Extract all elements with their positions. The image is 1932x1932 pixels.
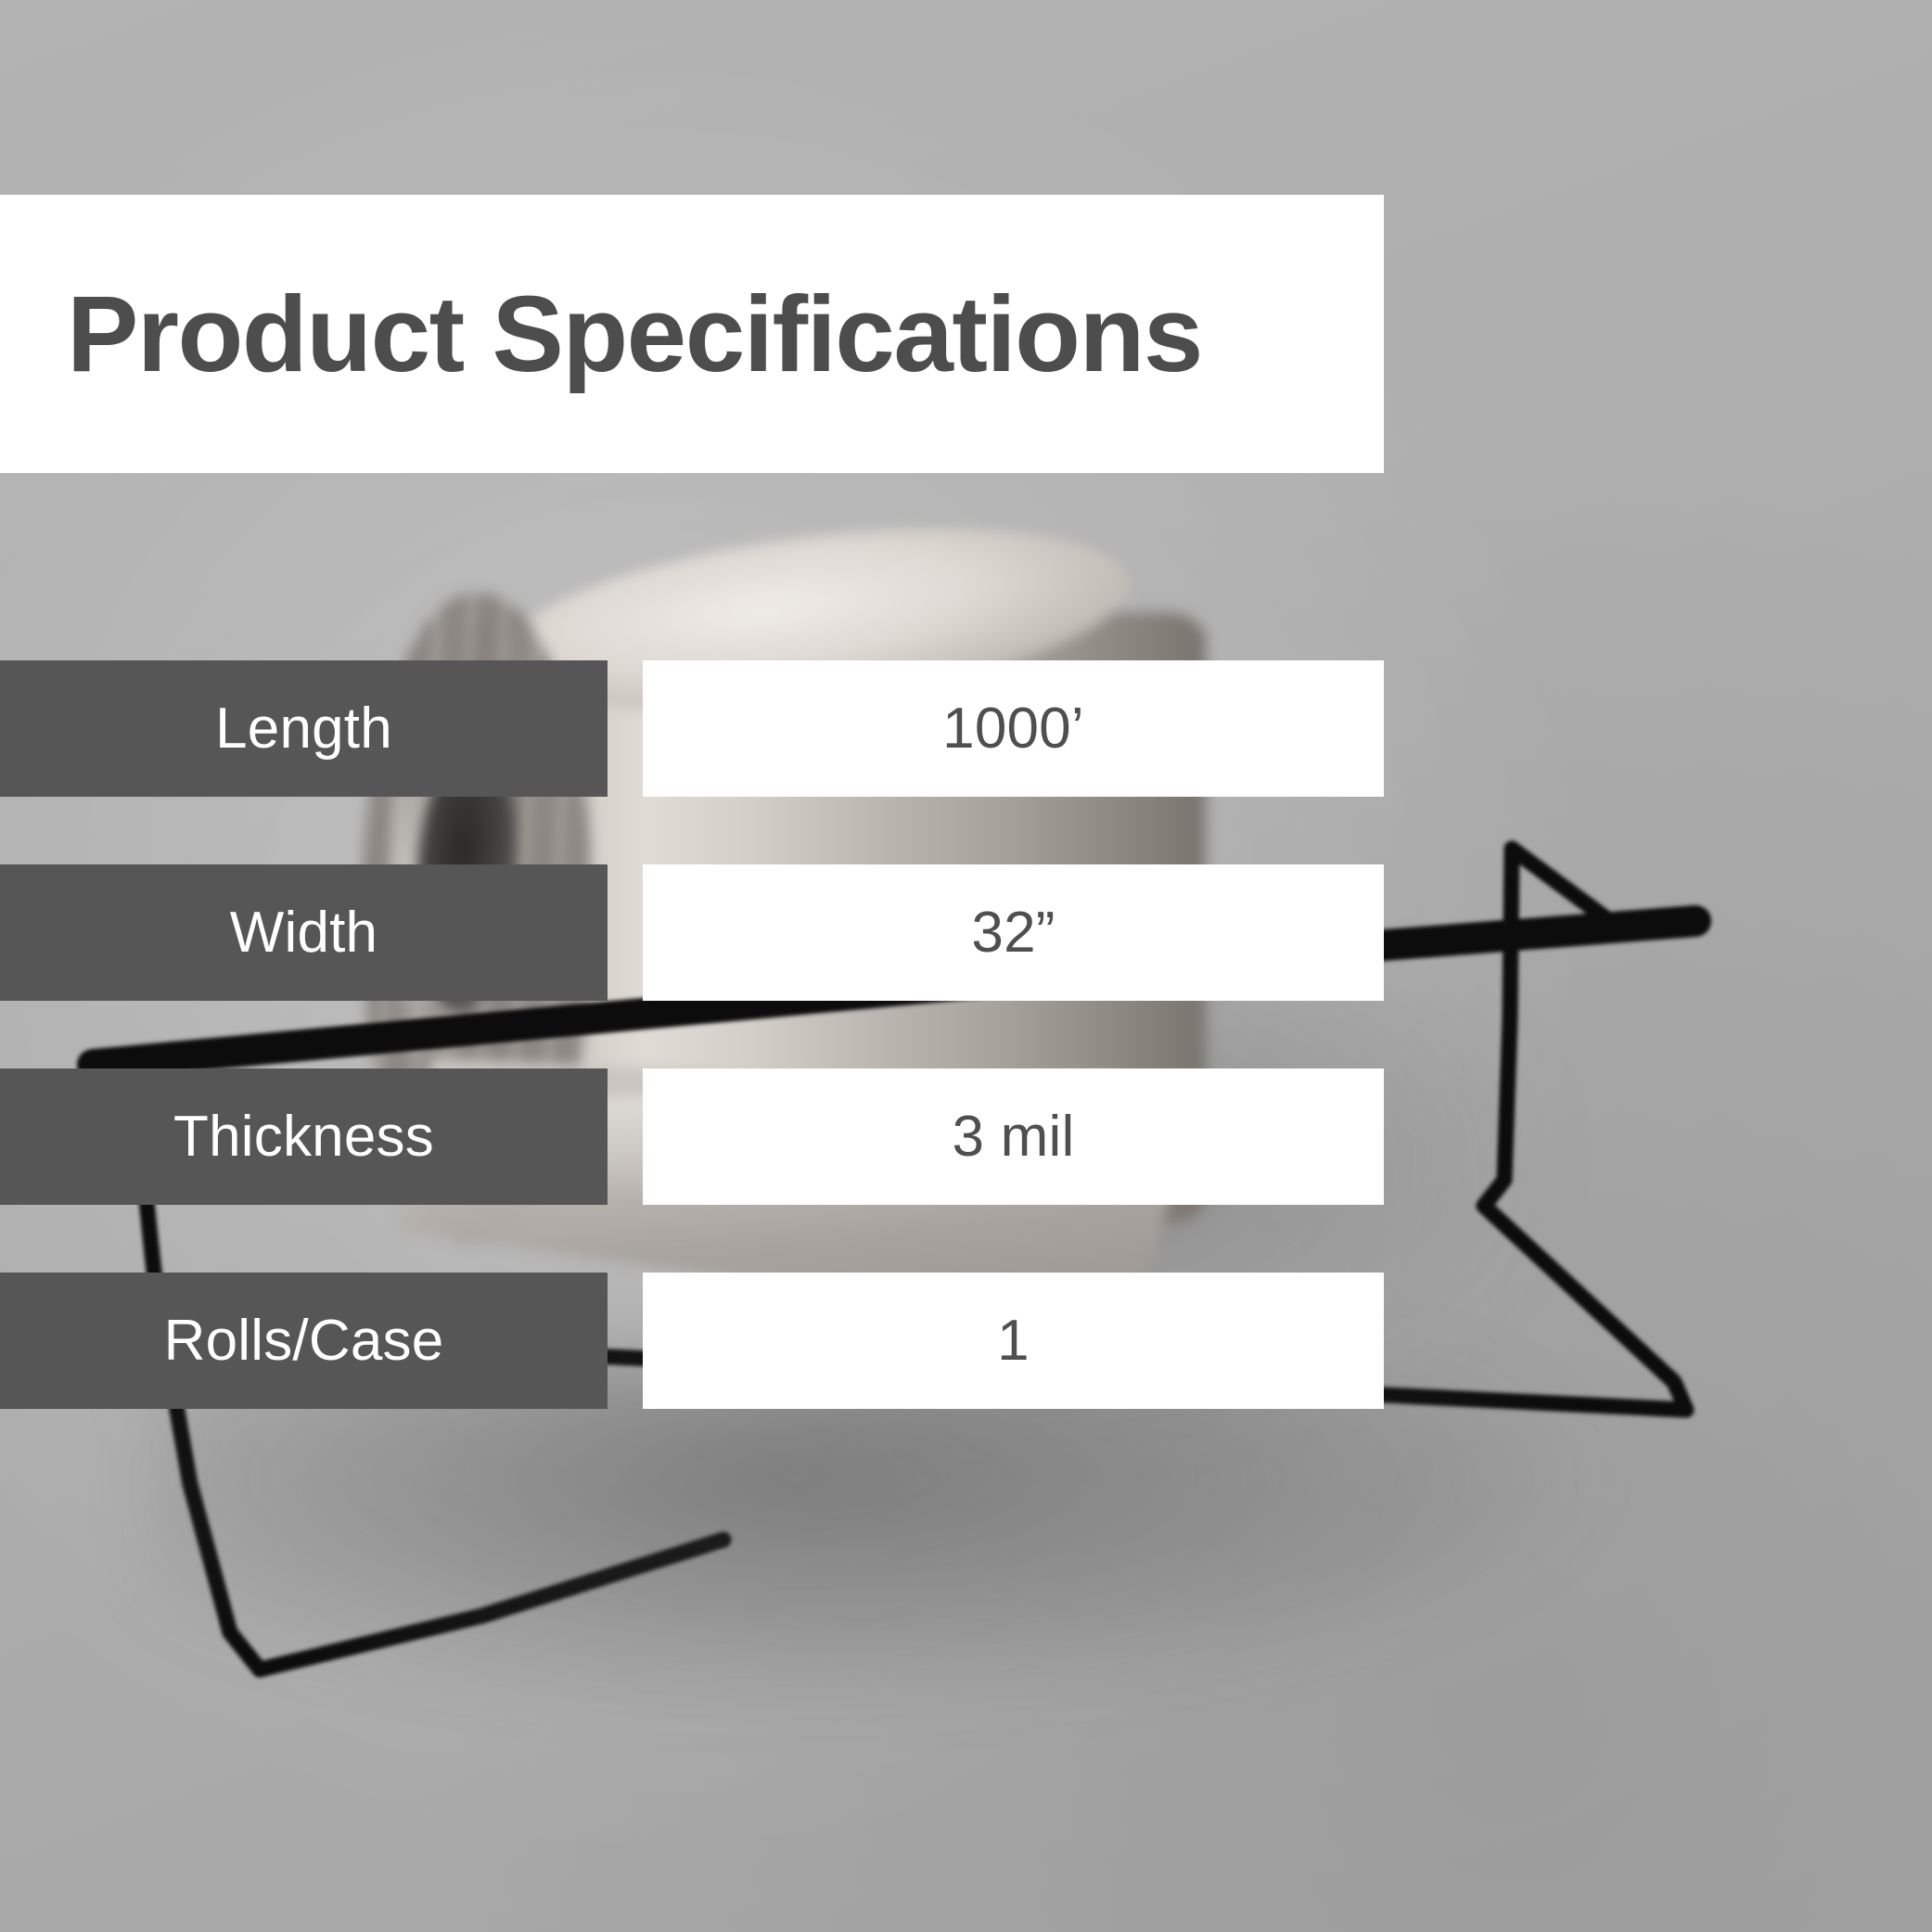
row-gap — [608, 864, 643, 1001]
table-row: Length 1000’ — [0, 660, 1384, 797]
spec-label-rolls-per-case: Rolls/Case — [0, 1273, 608, 1409]
product-spec-card: Product Specifications Length 1000’ Widt… — [0, 0, 1932, 1932]
title-banner: Product Specifications — [0, 195, 1384, 473]
spec-value-rolls-per-case: 1 — [643, 1273, 1384, 1409]
spec-label-length: Length — [0, 660, 608, 797]
row-gap — [608, 1068, 643, 1205]
card-content: Product Specifications Length 1000’ Widt… — [0, 0, 1932, 1932]
spec-value-thickness: 3 mil — [643, 1068, 1384, 1205]
spec-value-length: 1000’ — [643, 660, 1384, 797]
table-row: Thickness 3 mil — [0, 1068, 1384, 1205]
table-row: Width 32” — [0, 864, 1384, 1001]
spec-label-width: Width — [0, 864, 608, 1001]
spec-label-thickness: Thickness — [0, 1068, 608, 1205]
spec-value-width: 32” — [643, 864, 1384, 1001]
specifications-table: Length 1000’ Width 32” Thickness 3 mil R… — [0, 660, 1384, 1409]
table-row: Rolls/Case 1 — [0, 1273, 1384, 1409]
page-title: Product Specifications — [67, 280, 1202, 388]
row-gap — [608, 660, 643, 797]
row-gap — [608, 1273, 643, 1409]
